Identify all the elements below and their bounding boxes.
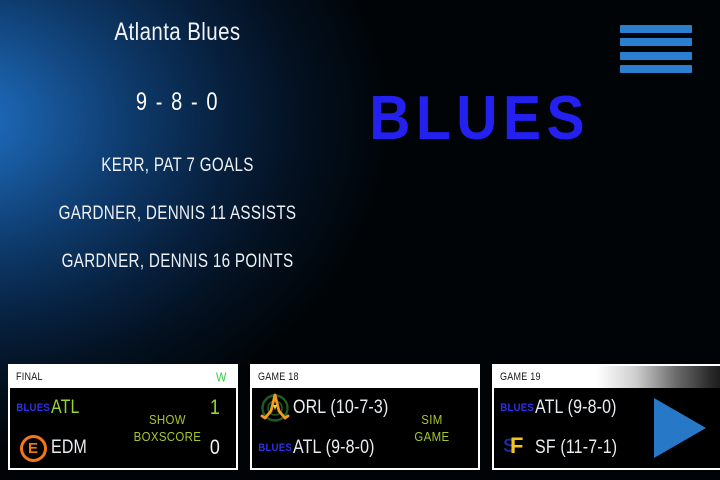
score-value: 0 xyxy=(210,431,220,465)
blues-logo-text: BLUES xyxy=(16,402,50,414)
card-body: ORL (10-7-3) BLUES ATL (9-8-0) SIM GAME xyxy=(252,388,478,468)
card-header: GAME 19 xyxy=(494,366,720,388)
game-card-18[interactable]: GAME 18 xyxy=(250,364,480,470)
blues-wordmark-logo: BLUES xyxy=(500,393,534,423)
edm-logo-letter: E xyxy=(20,435,47,462)
table-row: BLUES ATL (9-8-0) xyxy=(258,431,423,465)
sf-logo-glyphs: S F xyxy=(502,434,532,462)
blues-logo-text: BLUES xyxy=(500,402,534,414)
table-row: BLUES ATL (9-8-0) xyxy=(500,391,665,425)
card-header-label: GAME 19 xyxy=(500,371,541,383)
team-record: 9 - 8 - 0 xyxy=(36,88,320,117)
card-header-label: GAME 18 xyxy=(258,371,299,383)
blues-wordmark-logo: BLUES xyxy=(258,433,292,463)
team-abbrev: SF (11-7-1) xyxy=(535,437,617,459)
team-wordmark-logo: BLUES xyxy=(369,88,581,150)
sim-game-line2: GAME xyxy=(415,428,450,445)
table-row: ORL (10-7-3) xyxy=(258,391,423,425)
hamburger-bar xyxy=(620,25,692,33)
page-title: Atlanta Blues xyxy=(32,18,323,47)
game-card-19[interactable]: GAME 19 BLUES ATL (9-8-0) S F xyxy=(492,364,720,470)
hamburger-menu-icon[interactable] xyxy=(620,25,692,73)
sf-logo-f: F xyxy=(510,435,523,457)
team-leader-goals: KERR, PAT 7 GOALS xyxy=(36,155,320,177)
card-header: GAME 18 xyxy=(252,366,478,388)
card-team-rows: ORL (10-7-3) BLUES ATL (9-8-0) xyxy=(258,388,423,468)
play-game-button[interactable] xyxy=(654,398,706,458)
sim-game-button[interactable]: SIM GAME xyxy=(412,411,452,445)
team-abbrev: ATL xyxy=(51,397,80,419)
team-abbrev: ATL (9-8-0) xyxy=(535,397,617,419)
team-abbrev: ORL (10-7-3) xyxy=(293,397,388,419)
hamburger-bar xyxy=(620,38,692,46)
edm-circle-e-logo: E xyxy=(16,433,50,463)
game-cards-row: FINAL W BLUES ATL E EDM xyxy=(0,364,720,480)
game-card-final[interactable]: FINAL W BLUES ATL E EDM xyxy=(8,364,238,470)
card-body: BLUES ATL E EDM SHOW BOXSCORE xyxy=(10,388,236,468)
card-body: BLUES ATL (9-8-0) S F SF (11-7-1) xyxy=(494,388,720,468)
show-boxscore-line2: BOXSCORE xyxy=(134,428,202,445)
blues-logo-text: BLUES xyxy=(258,442,292,454)
orl-crossed-sticks-logo xyxy=(258,393,292,423)
sf-interlock-logo: S F xyxy=(500,433,534,463)
team-leader-assists: GARDNER, DENNIS 11 ASSISTS xyxy=(36,203,320,225)
team-leader-points: GARDNER, DENNIS 16 POINTS xyxy=(36,251,320,273)
hamburger-bar xyxy=(620,65,692,73)
hamburger-bar xyxy=(620,52,692,60)
score-value: 1 xyxy=(210,391,220,425)
blues-wordmark-logo: BLUES xyxy=(16,393,50,423)
team-dashboard-screen: Atlanta Blues 9 - 8 - 0 KERR, PAT 7 GOAL… xyxy=(0,0,720,480)
orl-logo-svg xyxy=(260,393,290,423)
team-summary-panel: Atlanta Blues 9 - 8 - 0 KERR, PAT 7 GOAL… xyxy=(0,0,720,356)
card-team-rows: BLUES ATL (9-8-0) S F SF (11-7-1) xyxy=(500,388,665,468)
show-boxscore-line1: SHOW xyxy=(134,411,202,428)
card-scores: 1 0 xyxy=(202,388,228,468)
sim-game-line1: SIM xyxy=(415,411,450,428)
team-abbrev: ATL (9-8-0) xyxy=(293,437,375,459)
card-result-badge: W xyxy=(216,370,227,385)
table-row: S F SF (11-7-1) xyxy=(500,431,665,465)
show-boxscore-button[interactable]: SHOW BOXSCORE xyxy=(129,411,206,445)
team-abbrev: EDM xyxy=(51,437,87,459)
card-header: FINAL W xyxy=(10,366,236,388)
card-header-label: FINAL xyxy=(16,371,43,383)
